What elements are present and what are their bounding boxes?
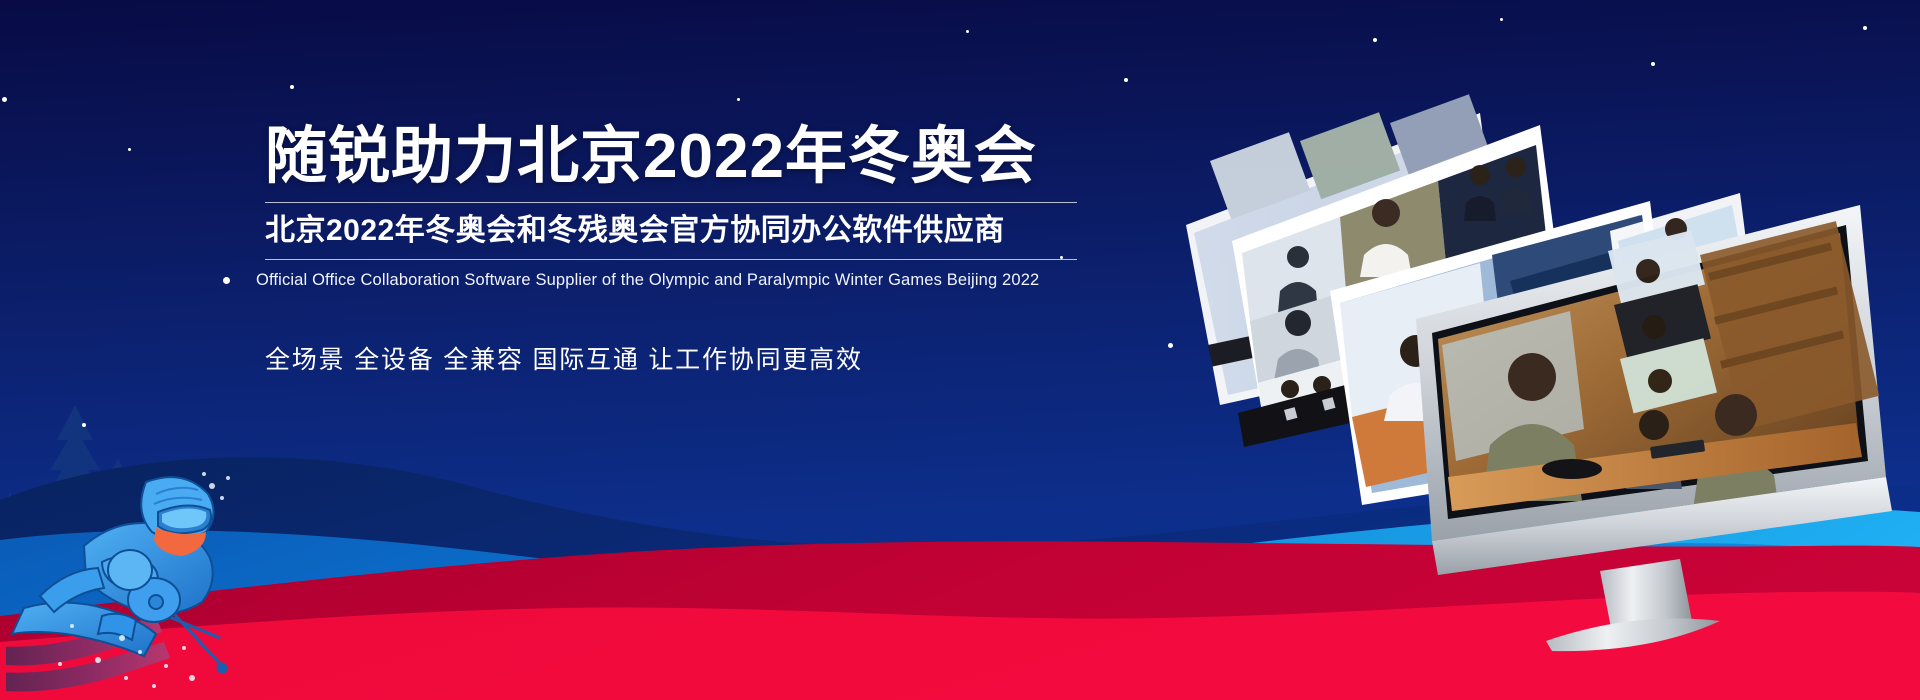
divider-top: [265, 202, 1077, 203]
bullet-dot-icon: [223, 277, 230, 284]
feature-tagline: 全场景 全设备 全兼容 国际互通 让工作协同更高效: [265, 340, 1085, 376]
banner-copy-block: 随锐助力北京2022年冬奥会 北京2022年冬奥会和冬残奥会官方协同办公软件供应…: [265, 125, 1085, 376]
alpine-skier-illustration: [6, 420, 306, 700]
video-conference-monitor-stack: 结束会议: [1180, 105, 1920, 585]
olympic-promo-banner: 结束会议: [0, 0, 1920, 700]
subtitle-english: Official Office Collaboration Software S…: [256, 271, 1039, 290]
subtitle-english-row: Official Office Collaboration Software S…: [223, 271, 1085, 290]
subtitle-chinese: 北京2022年冬奥会和冬残奥会官方协同办公软件供应商: [265, 212, 1085, 250]
divider-bottom: [265, 259, 1077, 260]
page-title: 随锐助力北京2022年冬奥会: [265, 125, 1085, 188]
